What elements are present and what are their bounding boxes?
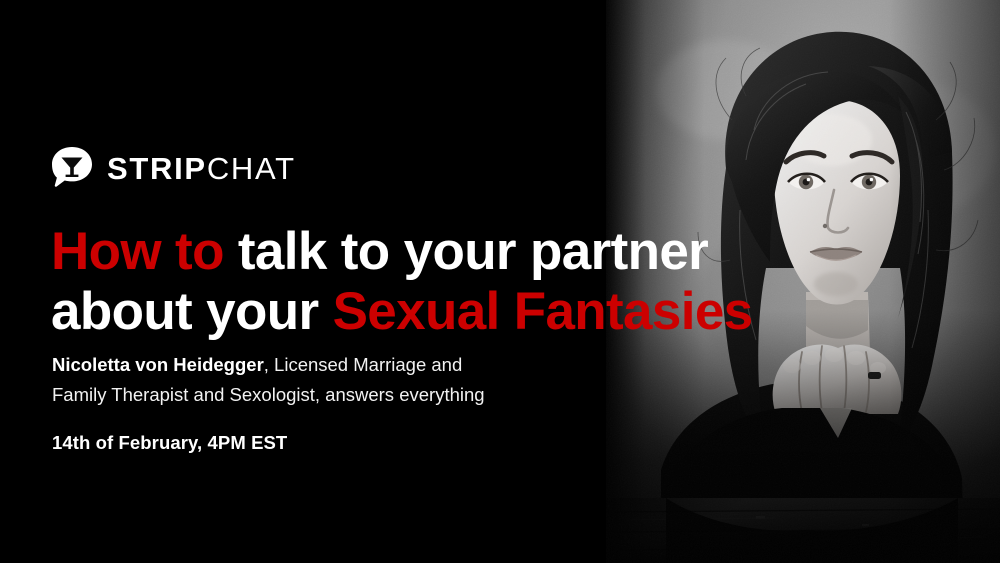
headline-line-2: about your Sexual Fantasies [51,282,751,342]
headline-white-2: about your [51,282,333,341]
page-title: How to talk to your partner about your S… [51,222,751,343]
headline-white-1: talk to your partner [238,222,708,281]
event-datetime: 14th of February, 4PM EST [52,432,287,454]
speaker-line-2: Family Therapist and Sexologist, answers… [52,380,572,410]
headline-line-1: How to talk to your partner [51,222,751,282]
speaker-line-1: Nicoletta von Heidegger, Licensed Marria… [52,350,572,380]
speech-bubble-cocktail-icon [50,145,94,189]
headline-red-1: How to [51,222,238,281]
stripchat-wordmark: STRIPCHAT [107,153,296,184]
wordmark-chat: CHAT [207,151,296,186]
speaker-credentials-part-1: , Licensed Marriage and [264,354,462,375]
speaker-name: Nicoletta von Heidegger [52,354,264,375]
webinar-promo-banner: STRIPCHAT How to talk to your partner ab… [0,0,1000,563]
speaker-description: Nicoletta von Heidegger, Licensed Marria… [52,350,572,410]
wordmark-strip: STRIP [107,151,207,186]
stripchat-logo[interactable]: STRIPCHAT [50,145,296,189]
headline-red-2: Sexual Fantasies [333,282,753,341]
